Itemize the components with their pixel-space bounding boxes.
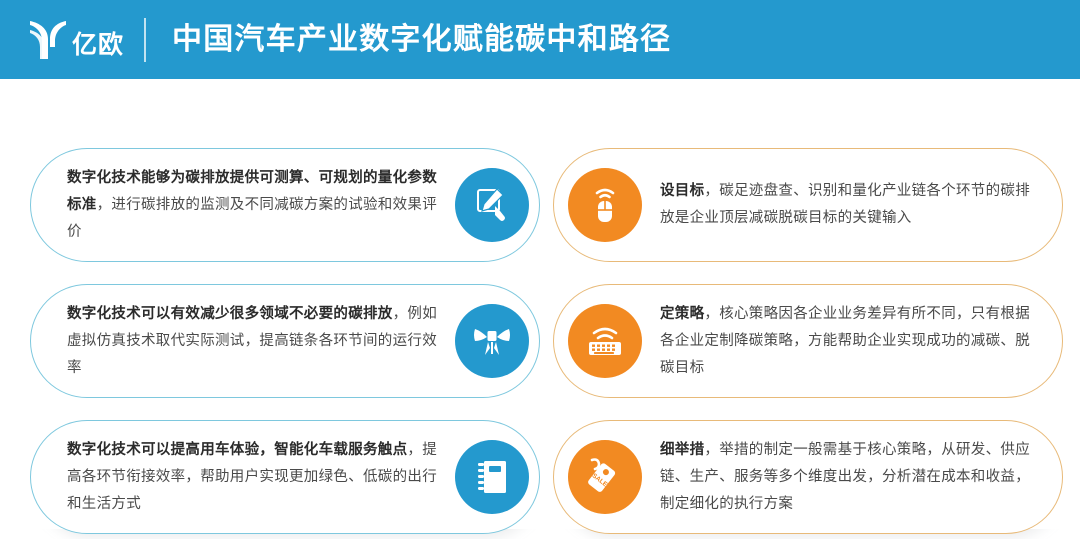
content-area: 数字化技术能够为碳排放提供可测算、可规划的量化参数标准，进行碳排放的监测及不同减…	[0, 79, 1080, 529]
header-divider	[144, 18, 146, 62]
yiou-logo-icon	[26, 17, 70, 63]
left-card-1-rest: ，进行碳排放的监测及不同减碳方案的试验和效果评价	[67, 197, 437, 240]
right-card-3-text: 细举措，举措的制定一般需基于核心策略，从研发、供应链、生产、服务等多个维度出发，…	[642, 437, 1040, 518]
left-card-2-bold: 数字化技术可以有效减少很多领域不必要的碳排放	[67, 306, 393, 322]
left-card-3[interactable]: 数字化技术可以提高用车体验，智能化车载服务触点，提高各环节衔接效率，帮助用户实现…	[30, 420, 540, 534]
right-card-2-text: 定策略，核心策略因各企业业务差异有所不同，只有根据各企业定制降碳策略，方能帮助企…	[642, 301, 1040, 382]
wireless-mouse-icon	[568, 168, 642, 242]
right-card-3-bold: 细举措	[660, 442, 704, 458]
right-card-1-bold: 设目标	[660, 183, 704, 199]
ribbon-bow-icon	[455, 304, 529, 378]
left-card-3-text: 数字化技术可以提高用车体验，智能化车载服务触点，提高各环节衔接效率，帮助用户实现…	[67, 437, 455, 518]
left-card-2[interactable]: 数字化技术可以有效减少很多领域不必要的碳排放，例如虚拟仿真技术取代实际测试，提高…	[30, 284, 540, 398]
price-tag-icon: SALE	[568, 440, 642, 514]
left-card-2-text: 数字化技术可以有效减少很多领域不必要的碳排放，例如虚拟仿真技术取代实际测试，提高…	[67, 301, 455, 382]
right-card-2-bold: 定策略	[660, 306, 704, 322]
edit-pencil-icon	[455, 168, 529, 242]
brand-logo: 亿欧	[26, 0, 124, 79]
brand-name: 亿欧	[72, 21, 124, 58]
wireless-keyboard-icon	[568, 304, 642, 378]
left-card-1-text: 数字化技术能够为碳排放提供可测算、可规划的量化参数标准，进行碳排放的监测及不同减…	[67, 165, 455, 246]
right-card-1-rest: ，碳足迹盘查、识别和量化产业链各个环节的碳排放是企业顶层减碳脱碳目标的关键输入	[660, 183, 1030, 226]
page-header: 亿欧 中国汽车产业数字化赋能碳中和路径	[0, 0, 1080, 79]
page-title: 中国汽车产业数字化赋能碳中和路径	[172, 25, 671, 55]
right-card-1[interactable]: 设目标，碳足迹盘查、识别和量化产业链各个环节的碳排放是企业顶层减碳脱碳目标的关键…	[553, 148, 1063, 262]
right-card-3-rest: ，举措的制定一般需基于核心策略，从研发、供应链、生产、服务等多个维度出发，分析潜…	[660, 442, 1030, 512]
left-card-1[interactable]: 数字化技术能够为碳排放提供可测算、可规划的量化参数标准，进行碳排放的监测及不同减…	[30, 148, 540, 262]
right-card-2-rest: ，核心策略因各企业业务差异有所不同，只有根据各企业定制降碳策略，方能帮助企业实现…	[660, 306, 1030, 376]
right-card-1-text: 设目标，碳足迹盘查、识别和量化产业链各个环节的碳排放是企业顶层减碳脱碳目标的关键…	[642, 178, 1040, 232]
right-card-3[interactable]: SALE 细举措，举措的制定一般需基于核心策略，从研发、供应链、生产、服务等多个…	[553, 420, 1063, 534]
notebook-icon	[455, 440, 529, 514]
left-card-3-bold: 数字化技术可以提高用车体验，智能化车载服务触点	[67, 442, 407, 458]
right-card-2[interactable]: 定策略，核心策略因各企业业务差异有所不同，只有根据各企业定制降碳策略，方能帮助企…	[553, 284, 1063, 398]
